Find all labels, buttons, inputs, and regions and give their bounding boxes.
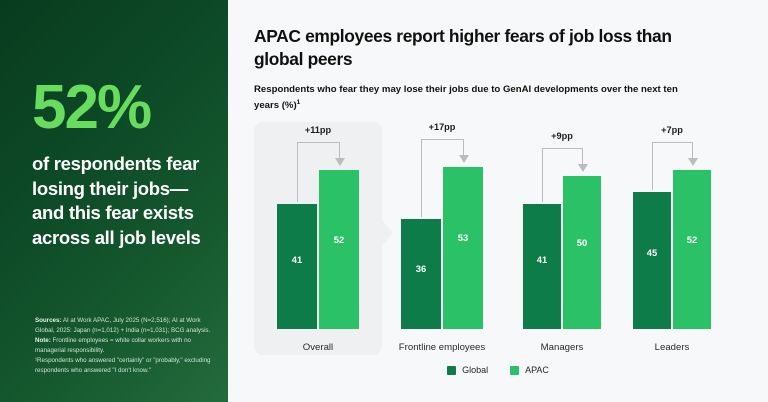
grouped-bar-chart: 4152Overall+11pp3653Frontline employees+…	[254, 122, 754, 357]
left-stat-panel: 52% of respondents fear losing their job…	[0, 0, 228, 402]
big-stat-number: 52%	[32, 77, 150, 139]
infographic-root: 52% of respondents fear losing their job…	[0, 0, 768, 402]
footnote-note-label: Note:	[35, 337, 51, 344]
chart-subtitle: Respondents who fear they may lose their…	[254, 83, 684, 114]
footnote-note: Note: Frontline employees = white collar…	[35, 336, 215, 356]
page-title: APAC employees report higher fears of jo…	[254, 25, 724, 71]
right-content-panel: APAC employees report higher fears of jo…	[228, 0, 768, 402]
chart-subtitle-footnote-marker: 1	[297, 99, 301, 106]
stat-caption: of respondents fear losing their jobs—an…	[32, 152, 218, 250]
legend-swatch-icon	[510, 366, 519, 375]
footnote-sources-text: AI at Work APAC, July 2025 (N=2,516); AI…	[35, 317, 210, 334]
footnotes-block: Sources: AI at Work APAC, July 2025 (N=2…	[35, 316, 215, 376]
legend-label: Global	[462, 365, 488, 375]
legend-label: APAC	[525, 365, 549, 375]
footnote-note-text: Frontline employees = white collar worke…	[35, 337, 191, 354]
chart-subtitle-text: Respondents who fear they may lose their…	[254, 84, 678, 111]
legend-swatch-icon	[447, 366, 456, 375]
delta-label-leaders: +7pp	[628, 125, 716, 135]
footnote-sources-label: Sources:	[35, 317, 61, 324]
legend-item-global[interactable]: Global	[447, 365, 488, 375]
chart-legend: GlobalAPAC	[228, 365, 768, 375]
footnote-sources: Sources: AI at Work APAC, July 2025 (N=2…	[35, 316, 215, 336]
footnote-one: ¹Respondents who answered "certainly" or…	[35, 356, 215, 376]
legend-item-apac[interactable]: APAC	[510, 365, 549, 375]
delta-connector-arrow-icon	[254, 122, 754, 357]
